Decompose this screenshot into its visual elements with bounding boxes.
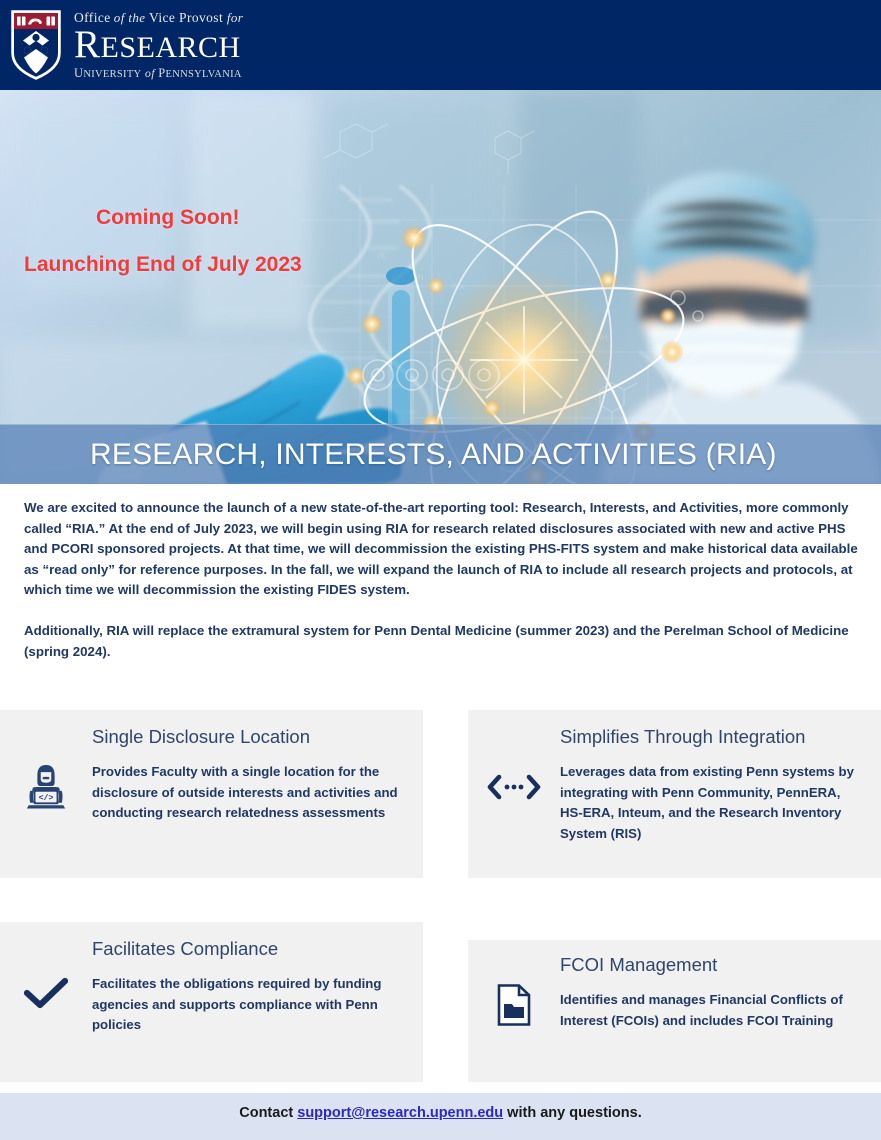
card-body: Simplifies Through Integration Leverages… bbox=[560, 710, 881, 844]
document-page-icon bbox=[468, 940, 560, 1026]
footer-suffix: with any questions. bbox=[503, 1105, 642, 1121]
card-title: Simplifies Through Integration bbox=[560, 726, 863, 748]
feature-card-compliance: Facilitates Compliance Facilitates the o… bbox=[0, 922, 423, 1082]
card-description: Provides Faculty with a single location … bbox=[92, 762, 405, 824]
checkmark-icon bbox=[0, 922, 92, 1012]
support-email-link[interactable]: support@research.upenn.edu bbox=[297, 1105, 503, 1121]
card-description: Leverages data from existing Penn system… bbox=[560, 762, 863, 844]
announcement-body: We are excited to announce the launch of… bbox=[24, 498, 858, 662]
wordmark-line-3: UNIVERSITY of PENNSYLVANIA bbox=[74, 67, 243, 81]
integration-chevrons-dots-icon bbox=[468, 710, 560, 802]
card-body: FCOI Management Identifies and manages F… bbox=[560, 940, 881, 1031]
feature-card-single-disclosure: </> Single Disclosure Location Provides … bbox=[0, 710, 423, 878]
card-description: Identifies and manages Financial Conflic… bbox=[560, 990, 863, 1031]
card-body: Facilitates Compliance Facilitates the o… bbox=[92, 922, 423, 1036]
card-title: Single Disclosure Location bbox=[92, 726, 405, 748]
announcement-paragraph-1: We are excited to announce the launch of… bbox=[24, 498, 858, 601]
penn-shield-icon bbox=[8, 9, 64, 81]
feature-card-integration: Simplifies Through Integration Leverages… bbox=[468, 710, 881, 878]
hero-title-band: RESEARCH, INTERESTS, AND ACTIVITIES (RIA… bbox=[0, 424, 881, 484]
wordmark-research: RESEARCH bbox=[74, 26, 243, 64]
announcement-paragraph-2: Additionally, RIA will replace the extra… bbox=[24, 621, 858, 662]
hero-banner: OH HN H₂ NH O bbox=[0, 90, 881, 484]
contact-footer: Contact support@research.upenn.edu with … bbox=[0, 1093, 881, 1140]
svg-text:H₂: H₂ bbox=[378, 251, 387, 260]
footer-prefix: Contact bbox=[239, 1105, 297, 1121]
card-title: Facilitates Compliance bbox=[92, 938, 405, 960]
wordmark-of-the: of the bbox=[114, 10, 146, 25]
penn-wordmark: Office of the Vice Provost for RESEARCH … bbox=[74, 9, 243, 81]
wordmark-vice-provost: Vice Provost bbox=[149, 10, 223, 25]
coming-soon-text: Coming Soon! bbox=[96, 206, 239, 230]
footer-contact-text: Contact support@research.upenn.edu with … bbox=[239, 1105, 641, 1121]
svg-text:</>: </> bbox=[39, 793, 54, 803]
card-description: Facilitates the obligations required by … bbox=[92, 974, 405, 1036]
page-title: RESEARCH, INTERESTS, AND ACTIVITIES (RIA… bbox=[0, 438, 777, 472]
launch-date-text: Launching End of July 2023 bbox=[24, 253, 302, 277]
card-title: FCOI Management bbox=[560, 954, 863, 976]
card-body: Single Disclosure Location Provides Facu… bbox=[92, 710, 423, 824]
site-header: Office of the Vice Provost for RESEARCH … bbox=[0, 0, 881, 90]
person-at-laptop-code-icon: </> bbox=[0, 710, 92, 812]
feature-card-fcoi: FCOI Management Identifies and manages F… bbox=[468, 940, 881, 1082]
wordmark-for: for bbox=[227, 10, 243, 25]
header-inner: Office of the Vice Provost for RESEARCH … bbox=[0, 0, 881, 90]
